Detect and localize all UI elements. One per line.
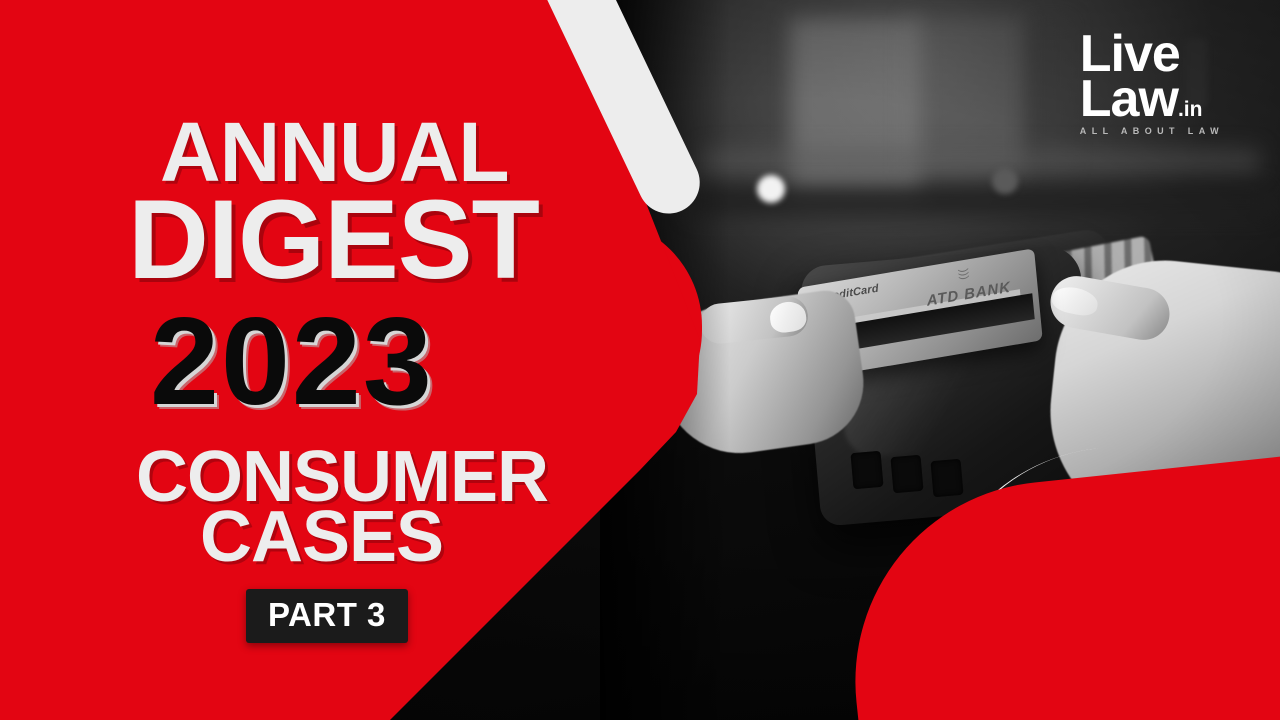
poster-canvas: #CreditCard ATD BANK ))) ANNUAL DIGEST 2… (0, 0, 1280, 720)
logo-word-law: Law (1080, 70, 1178, 128)
logo-domain-in: .in (1178, 98, 1203, 121)
logo-tagline: ALL ABOUT LAW (1080, 126, 1226, 136)
livelaw-logo: Live Law.in ALL ABOUT LAW (1080, 32, 1226, 136)
headline-line-digest: DIGEST (128, 194, 539, 286)
headline-line-cases: CASES (200, 508, 443, 567)
part-badge: PART 3 (246, 589, 408, 643)
logo-word-law-row: Law.in (1080, 77, 1226, 122)
headline-year: 2023 (150, 312, 434, 414)
headline-group: ANNUAL DIGEST 2023 CONSUMER CASES PART 3 (0, 0, 620, 720)
